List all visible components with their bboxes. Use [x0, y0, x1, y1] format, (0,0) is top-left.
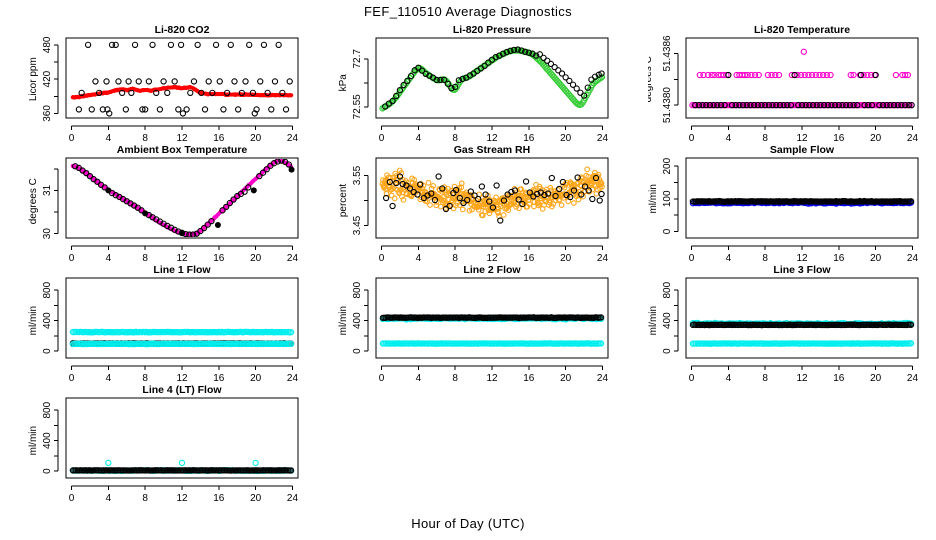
panel-line-3-flow: Line 3 Flow048121620240400800ml/min — [648, 264, 936, 384]
y-axis-label: ml/min — [338, 306, 349, 335]
x-tick-label: 0 — [689, 133, 695, 144]
x-tick-label: 4 — [726, 253, 732, 264]
x-tick-label: 24 — [287, 493, 299, 504]
x-tick-label: 24 — [597, 253, 609, 264]
y-tick-label: 3.45 — [352, 215, 363, 235]
y-tick-label: 400 — [42, 312, 53, 329]
y-axis-label: ml/min — [28, 426, 39, 455]
y-tick-label: 30 — [42, 228, 53, 240]
panel-axes: 048121620240100200ml/min — [648, 157, 918, 264]
y-tick-label: 0 — [352, 348, 363, 354]
x-tick-label: 8 — [142, 253, 148, 264]
panel-title: Li-820 CO2 — [155, 24, 210, 36]
x-tick-label: 16 — [213, 133, 225, 144]
panel-title: Line 3 Flow — [773, 264, 831, 276]
x-tick-label: 24 — [287, 373, 299, 384]
x-tick-label: 0 — [69, 133, 75, 144]
x-tick-label: 12 — [486, 253, 498, 264]
y-tick-label: 200 — [662, 157, 673, 174]
plot-data-layer — [70, 329, 293, 347]
x-tick-label: 8 — [452, 373, 458, 384]
x-tick-label: 8 — [142, 373, 148, 384]
figure-title: FEF_110510 Average Diagnostics — [0, 4, 936, 19]
y-axis-label: Licor ppm — [28, 57, 39, 101]
y-axis-label: ml/min — [648, 184, 659, 213]
x-tick-label: 16 — [833, 133, 845, 144]
x-tick-label: 0 — [379, 133, 385, 144]
series-2 — [106, 460, 259, 465]
y-tick-label: 800 — [42, 401, 53, 418]
series-0 — [71, 85, 294, 100]
x-tick-label: 4 — [106, 133, 112, 144]
plot-data-layer — [71, 158, 295, 237]
x-tick-label: 12 — [796, 133, 808, 144]
x-tick-label: 0 — [69, 373, 75, 384]
panel-li820-pressure: Li-820 Pressure0481216202472.5572.7kPa — [338, 24, 638, 144]
panel-title: Li-820 Temperature — [754, 24, 850, 36]
x-tick-label: 12 — [176, 373, 188, 384]
x-tick-label: 8 — [762, 253, 768, 264]
y-tick-label: 0 — [662, 348, 673, 354]
series-2 — [105, 167, 294, 237]
series-0 — [71, 158, 294, 236]
series-0 — [380, 167, 604, 219]
series-1 — [690, 322, 913, 328]
series-1 — [690, 198, 913, 204]
y-axis-label: degrees C — [28, 178, 39, 224]
x-tick-label: 12 — [796, 253, 808, 264]
series-1 — [76, 42, 292, 116]
x-tick-label: 4 — [106, 373, 112, 384]
y-tick-label: 51.4386 — [662, 35, 673, 72]
x-tick-label: 0 — [69, 493, 75, 504]
x-tick-label: 16 — [523, 253, 535, 264]
y-axis-label: degrees C — [648, 56, 654, 102]
x-tick-label: 0 — [689, 253, 695, 264]
series-2 — [70, 341, 293, 347]
x-tick-label: 4 — [726, 373, 732, 384]
x-tick-label: 20 — [250, 253, 262, 264]
x-tick-label: 0 — [379, 373, 385, 384]
x-tick-label: 8 — [142, 493, 148, 504]
x-tick-label: 24 — [907, 373, 919, 384]
panel-line-1-flow: Line 1 Flow048121620240400800ml/min — [28, 264, 328, 384]
panel-axes: 0481216202472.5572.7kPa — [338, 38, 608, 144]
x-tick-label: 16 — [833, 253, 845, 264]
x-tick-label: 12 — [486, 133, 498, 144]
x-tick-label: 4 — [416, 253, 422, 264]
x-tick-label: 24 — [597, 373, 609, 384]
x-tick-label: 12 — [796, 373, 808, 384]
x-tick-label: 20 — [870, 133, 882, 144]
x-tick-label: 20 — [560, 133, 572, 144]
x-tick-label: 16 — [213, 493, 225, 504]
y-axis-label: ml/min — [648, 306, 659, 335]
panel-axes: 048121620240400800ml/min — [648, 278, 918, 384]
x-tick-label: 8 — [762, 373, 768, 384]
y-tick-label: 800 — [352, 281, 363, 298]
y-tick-label: 420 — [42, 70, 53, 87]
diagnostics-figure: FEF_110510 Average Diagnostics Li-820 CO… — [0, 0, 936, 540]
x-tick-label: 20 — [870, 373, 882, 384]
panel-axes: 048121620240400800ml/min — [338, 278, 608, 384]
x-tick-label: 12 — [486, 373, 498, 384]
plot-data-layer — [380, 315, 603, 347]
panel-title: Line 2 Flow — [463, 264, 521, 276]
y-axis-label: kPa — [338, 74, 349, 92]
x-tick-label: 16 — [213, 253, 225, 264]
y-tick-label: 100 — [662, 190, 673, 207]
plot-data-layer — [70, 460, 293, 473]
series-2 — [380, 341, 603, 347]
x-tick-label: 20 — [560, 253, 572, 264]
y-tick-label: 400 — [42, 432, 53, 449]
x-tick-label: 12 — [176, 133, 188, 144]
plot-data-layer — [71, 42, 294, 116]
plot-data-layer — [690, 49, 914, 108]
y-tick-label: 0 — [662, 228, 673, 234]
panel-li820-temperature: Li-820 Temperature0481216202451.438051.4… — [648, 24, 936, 144]
series-1 — [73, 158, 292, 237]
y-tick-label: 480 — [42, 36, 53, 53]
x-tick-label: 20 — [250, 133, 262, 144]
y-tick-label: 0 — [42, 348, 53, 354]
x-tick-label: 20 — [870, 253, 882, 264]
x-tick-label: 24 — [597, 133, 609, 144]
panel-title: Gas Stream RH — [454, 144, 530, 156]
figure-x-axis-label: Hour of Day (UTC) — [0, 516, 936, 531]
panel-title: Li-820 Pressure — [453, 24, 531, 36]
x-tick-label: 24 — [907, 253, 919, 264]
y-tick-label: 400 — [662, 312, 673, 329]
panel-title: Line 1 Flow — [153, 264, 211, 276]
y-tick-label: 800 — [662, 281, 673, 298]
x-tick-label: 24 — [907, 133, 919, 144]
x-tick-label: 24 — [287, 133, 299, 144]
panel-axes: 048121620240400800ml/min — [28, 398, 298, 504]
x-tick-label: 8 — [452, 253, 458, 264]
x-tick-label: 20 — [250, 493, 262, 504]
y-tick-label: 360 — [42, 105, 53, 122]
x-tick-label: 20 — [560, 373, 572, 384]
plot-data-layer — [690, 198, 913, 206]
y-tick-label: 400 — [352, 312, 363, 329]
y-axis-label: percent — [338, 184, 349, 218]
series-2 — [690, 341, 913, 347]
plot-data-layer — [380, 47, 605, 111]
x-tick-label: 20 — [250, 373, 262, 384]
x-tick-label: 4 — [416, 133, 422, 144]
x-tick-label: 0 — [69, 253, 75, 264]
x-tick-label: 16 — [213, 373, 225, 384]
x-tick-label: 16 — [523, 373, 535, 384]
panel-li820-co2: Li-820 CO204812162024360420480Licor ppm — [28, 24, 328, 144]
plot-data-layer — [380, 167, 604, 223]
x-tick-label: 0 — [689, 373, 695, 384]
y-axis-label: ml/min — [28, 306, 39, 335]
series-0 — [70, 329, 293, 335]
panel-gas-stream-rh: Gas Stream RH048121620243.453.55percent — [338, 144, 638, 264]
panel-ambient-box-temperature: Ambient Box Temperature048121620243031de… — [28, 144, 328, 264]
x-tick-label: 12 — [176, 253, 188, 264]
y-tick-label: 31 — [42, 184, 53, 196]
x-tick-label: 4 — [416, 373, 422, 384]
x-tick-label: 8 — [762, 133, 768, 144]
x-tick-label: 8 — [452, 133, 458, 144]
x-tick-label: 4 — [106, 493, 112, 504]
x-tick-label: 24 — [287, 253, 299, 264]
series-1 — [380, 315, 603, 321]
x-tick-label: 16 — [833, 373, 845, 384]
series-1 — [70, 468, 293, 474]
y-tick-label: 3.55 — [352, 165, 363, 185]
x-tick-label: 16 — [523, 133, 535, 144]
plot-data-layer — [690, 320, 913, 346]
y-tick-label: 0 — [42, 468, 53, 474]
y-tick-label: 72.7 — [352, 49, 363, 69]
series-2 — [801, 49, 806, 54]
panel-sample-flow: Sample Flow048121620240100200ml/min — [648, 144, 936, 264]
x-tick-label: 8 — [142, 133, 148, 144]
panel-title: Sample Flow — [770, 144, 835, 156]
x-tick-label: 4 — [726, 133, 732, 144]
x-tick-label: 12 — [176, 493, 188, 504]
x-tick-label: 0 — [379, 253, 385, 264]
y-tick-label: 72.55 — [352, 94, 363, 119]
x-tick-label: 4 — [106, 253, 112, 264]
y-tick-label: 800 — [42, 281, 53, 298]
panel-title: Ambient Box Temperature — [117, 144, 248, 156]
panel-line-4-lt-flow: Line 4 (LT) Flow048121620240400800ml/min — [28, 384, 328, 504]
panel-axes: 0481216202451.438051.4386degrees C — [648, 35, 918, 144]
y-tick-label: 51.4380 — [662, 87, 673, 124]
panel-title: Line 4 (LT) Flow — [142, 384, 222, 396]
panel-line-2-flow: Line 2 Flow048121620240400800ml/min — [338, 264, 638, 384]
